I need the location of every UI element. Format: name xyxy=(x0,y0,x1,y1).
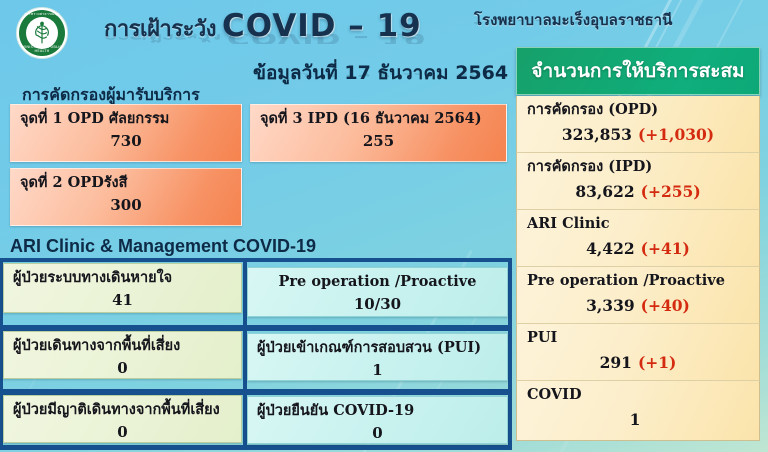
card-value: 255 xyxy=(260,132,497,150)
grid-frame-line xyxy=(508,261,512,449)
card-value: 323,853(+1,030) xyxy=(527,125,749,144)
card-number: 1 xyxy=(630,410,641,429)
card-value: 1 xyxy=(527,410,749,429)
card-label: COVID xyxy=(527,386,749,404)
data-date-reflection: ข้อมูลวันที่ 17 ธันวาคม 2564 xyxy=(253,73,508,80)
card-label: จุดที่ 3 IPD (16 ธันวาคม 2564) xyxy=(260,110,497,128)
screening-card-ipd: จุดที่ 3 IPD (16 ธันวาคม 2564) 255 xyxy=(250,104,507,162)
grid-frame-line xyxy=(0,445,512,450)
card-label: ผู้ป่วยเข้าเกณฑ์การสอบสวน (PUI) xyxy=(257,339,498,357)
card-value: 730 xyxy=(20,132,232,150)
card-value: 10/30 xyxy=(257,295,498,313)
screening-card-opd-surgery: จุดที่ 1 OPD ศัลยกรรม 730 xyxy=(10,104,242,162)
card-label: Pre operation /Proactive xyxy=(257,273,498,291)
ari-card-pui: ผู้ป่วยเข้าเกณฑ์การสอบสวน (PUI) 1 xyxy=(247,333,508,381)
card-value: 300 xyxy=(20,196,232,214)
card-delta: (+255) xyxy=(641,182,701,201)
hospital-name-reflection: โรงพยาบาลมะเร็งอุบลราชธานี xyxy=(474,19,672,26)
card-value: 291(+1) xyxy=(527,353,749,372)
card-label: ผู้ป่วยระบบทางเดินหายใจ xyxy=(13,269,232,287)
card-number: 83,622 xyxy=(575,182,634,201)
page-title-reflection: การเฝ้าระวังCOVID – 19 xyxy=(104,34,427,44)
card-label: จุดที่ 1 OPD ศัลยกรรม xyxy=(20,110,232,128)
cumulative-card-pre-operation-proactive: Pre operation /Proactive 3,339(+40) xyxy=(516,267,760,324)
ari-card-respiratory-patients: ผู้ป่วยระบบทางเดินหายใจ 41 xyxy=(3,263,242,313)
cumulative-card-screening-opd: การคัดกรอง (OPD) 323,853(+1,030) xyxy=(516,96,760,153)
cumulative-section-label: จำนวนการให้บริการสะสม xyxy=(531,56,744,86)
ari-card-pre-operation-proactive: Pre operation /Proactive 10/30 xyxy=(247,267,508,317)
card-label: ARI Clinic xyxy=(527,215,749,233)
cumulative-card-ari-clinic: ARI Clinic 4,422(+41) xyxy=(516,210,760,267)
card-label: การคัดกรอง (OPD) xyxy=(527,101,749,119)
cumulative-section-header: จำนวนการให้บริการสะสม xyxy=(516,47,760,95)
ari-card-confirmed-covid: ผู้ป่วยยืนยัน COVID-19 0 xyxy=(247,396,508,444)
card-label: การคัดกรอง (IPD) xyxy=(527,158,749,176)
card-label: Pre operation /Proactive xyxy=(527,272,749,290)
ari-card-relative-travel-from-risk-area: ผู้ป่วยมีญาติเดินทางจากพื้นที่เสี่ยง 0 xyxy=(3,395,242,443)
cumulative-card-covid: COVID 1 xyxy=(516,381,760,441)
card-value: 41 xyxy=(13,291,232,309)
card-number: 323,853 xyxy=(562,125,632,144)
ministry-of-public-health-logo-icon: กระทรวงสาธารณสุข MINISTRY OF PUBLIC HEAL… xyxy=(16,7,68,59)
card-label: จุดที่ 2 OPDรังสี xyxy=(20,174,232,192)
card-delta: (+41) xyxy=(641,239,690,258)
card-number: 291 xyxy=(600,353,632,372)
card-label: PUI xyxy=(527,329,749,347)
card-value: 3,339(+40) xyxy=(527,296,749,315)
card-delta: (+40) xyxy=(641,296,690,315)
card-value: 0 xyxy=(13,423,232,441)
screening-card-opd-radiology: จุดที่ 2 OPDรังสี 300 xyxy=(10,168,242,226)
card-value: 4,422(+41) xyxy=(527,239,749,258)
card-value: 1 xyxy=(257,361,498,379)
card-number: 3,339 xyxy=(586,296,635,315)
logo-text-top: กระทรวงสาธารณสุข xyxy=(17,13,67,17)
card-label: ผู้ป่วยเดินทางจากพื้นที่เสี่ยง xyxy=(13,337,232,355)
logo-inner-disc xyxy=(26,17,58,49)
cumulative-card-pui: PUI 291(+1) xyxy=(516,324,760,381)
caduceus-icon xyxy=(29,20,55,46)
grid-frame-line xyxy=(0,258,512,262)
card-value: 0 xyxy=(13,359,232,377)
card-label: ผู้ป่วยยืนยัน COVID-19 xyxy=(257,402,498,420)
card-delta: (+1,030) xyxy=(638,125,714,144)
card-delta: (+1) xyxy=(638,353,676,372)
card-value: 0 xyxy=(257,424,498,442)
ari-section-label: ARI Clinic & Management COVID-19 xyxy=(10,236,316,257)
ari-card-travel-from-risk-area: ผู้ป่วยเดินทางจากพื้นที่เสี่ยง 0 xyxy=(3,331,242,379)
card-value: 83,622(+255) xyxy=(527,182,749,201)
cumulative-card-screening-ipd: การคัดกรอง (IPD) 83,622(+255) xyxy=(516,153,760,210)
card-label: ผู้ป่วยมีญาติเดินทางจากพื้นที่เสี่ยง xyxy=(13,401,232,419)
card-number: 4,422 xyxy=(586,239,635,258)
